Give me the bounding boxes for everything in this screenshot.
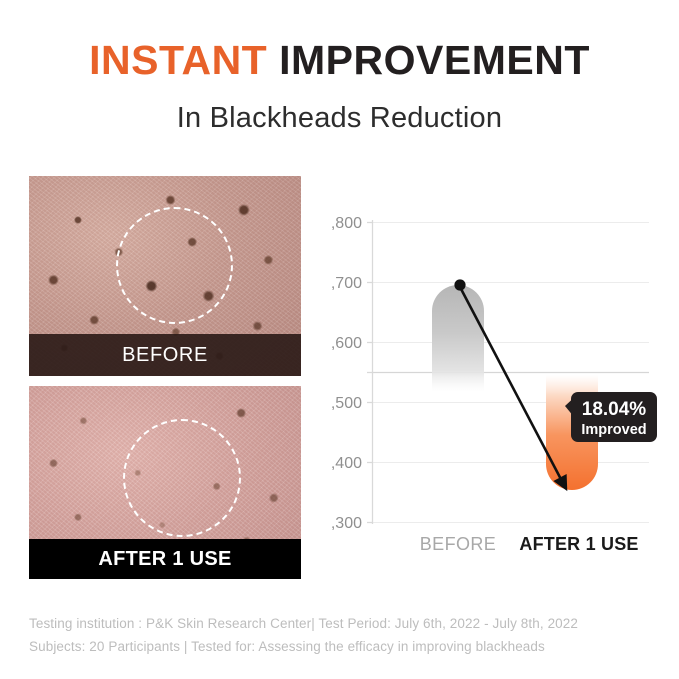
after-photo-caption: AFTER 1 USE (29, 539, 301, 579)
x-tick-label-before: BEFORE (420, 534, 496, 554)
blackhead-reduction-chart: 1,800 1,700 1,600 1,500 1,400 1,300 (331, 196, 661, 566)
y-tick-label: 1,800 (331, 215, 362, 232)
arrow-start-dot (454, 279, 465, 290)
footnote-line-2: Subjects: 20 Participants | Tested for: … (29, 635, 649, 658)
y-tick-label: 1,400 (331, 455, 362, 472)
y-tick-label: 1,600 (331, 335, 362, 352)
chart-svg: 1,800 1,700 1,600 1,500 1,400 1,300 (331, 196, 661, 566)
page-subtitle: In Blackheads Reduction (0, 102, 679, 135)
x-tick-label-after: AFTER 1 USE (519, 534, 638, 554)
callout-percent: 18.04% (582, 399, 647, 420)
y-tick-label: 1,500 (331, 395, 362, 412)
improvement-callout: 18.04% Improved (565, 392, 657, 442)
chart-y-tick-labels: 1,800 1,700 1,600 1,500 1,400 1,300 (331, 215, 362, 532)
infographic-root: INSTANT IMPROVEMENT In Blackheads Reduct… (0, 0, 679, 679)
y-tick-label: 1,700 (331, 275, 362, 292)
page-title-highlight: INSTANT (89, 37, 267, 83)
chart-x-tick-labels: BEFORE AFTER 1 USE (420, 534, 639, 554)
bar-before[interactable] (432, 285, 484, 392)
y-tick-label: 1,300 (331, 515, 362, 532)
page-title: INSTANT IMPROVEMENT (0, 40, 679, 81)
before-photo: BEFORE (29, 176, 301, 376)
after-photo: AFTER 1 USE (29, 386, 301, 579)
page-title-rest: IMPROVEMENT (279, 37, 590, 83)
chart-y-ticks (367, 223, 373, 523)
region-of-interest-circle (116, 207, 233, 324)
footnote-line-1: Testing institution : P&K Skin Research … (29, 612, 649, 635)
callout-label: Improved (581, 422, 646, 438)
region-of-interest-circle (123, 419, 241, 537)
before-photo-caption: BEFORE (29, 334, 301, 376)
study-footnote: Testing institution : P&K Skin Research … (29, 612, 649, 658)
